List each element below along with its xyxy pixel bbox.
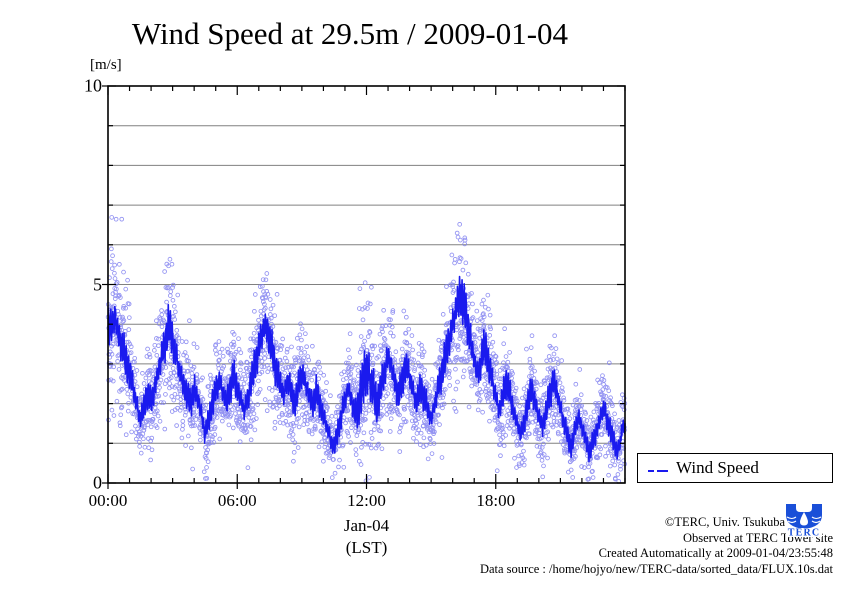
credit-data-source: Data source : /home/hojyo/new/TERC-data/… bbox=[233, 562, 833, 578]
y-tick-label: 10 bbox=[84, 76, 102, 97]
legend[interactable]: Wind Speed bbox=[637, 453, 833, 483]
x-tick-label: 00:00 bbox=[89, 491, 128, 511]
x-tick-label: 12:00 bbox=[347, 491, 386, 511]
credit-created-at: Created Automatically at 2009-01-04/23:5… bbox=[233, 546, 833, 562]
credits-block: ©TERC, Univ. Tsukuba Observed at TERC To… bbox=[233, 515, 833, 577]
svg-text:TERC: TERC bbox=[788, 528, 821, 538]
legend-label-wind-speed: Wind Speed bbox=[676, 458, 759, 478]
credit-copyright: ©TERC, Univ. Tsukuba bbox=[233, 515, 833, 531]
terc-logo: TERC bbox=[784, 503, 824, 537]
x-tick-label: 06:00 bbox=[218, 491, 257, 511]
credit-observed-at: Observed at TERC Tower site bbox=[233, 531, 833, 547]
y-tick-label: 5 bbox=[93, 274, 102, 295]
legend-line-swatch bbox=[647, 463, 669, 473]
x-tick-label: 18:00 bbox=[476, 491, 515, 511]
wind-speed-chart: Wind Speed at 29.5m / 2009-01-04 [m/s] 0… bbox=[0, 0, 842, 595]
